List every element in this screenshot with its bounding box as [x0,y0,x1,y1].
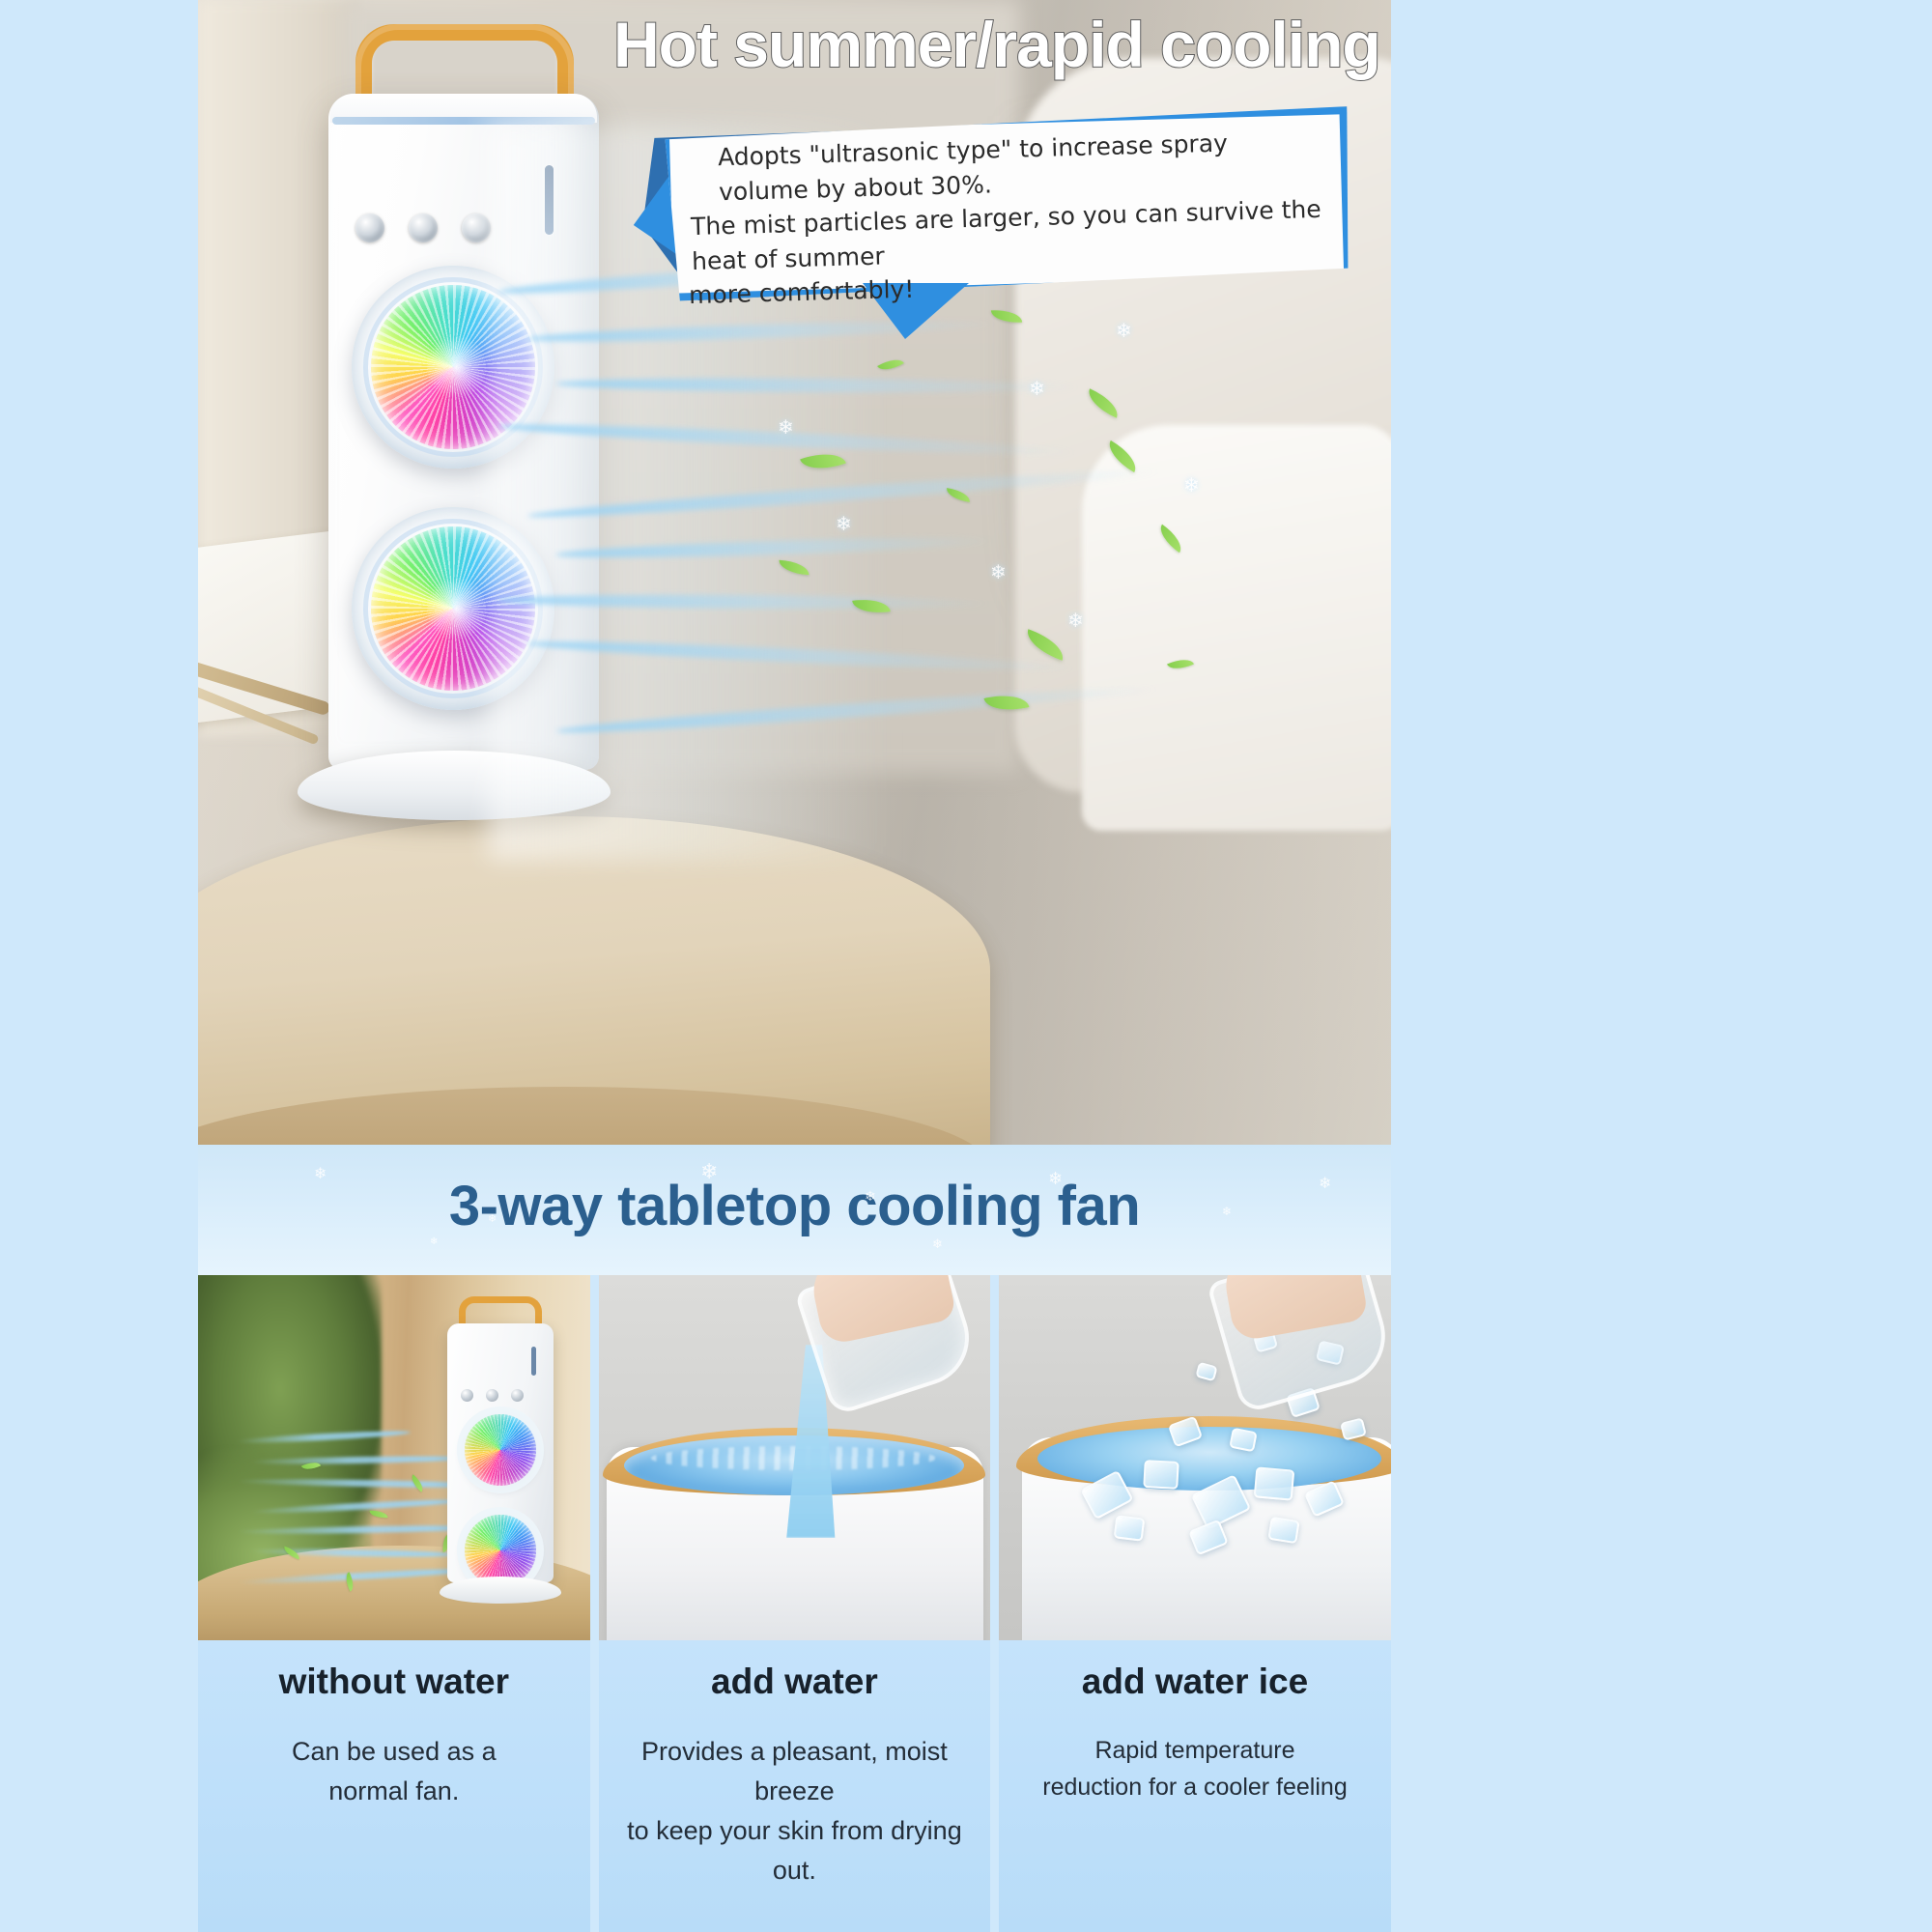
section-banner: 3-way tabletop cooling fan ❄❄❄❄❄❄❄❄❄ [198,1145,1391,1275]
speech-bubble-text: Adopts "ultrasonic type" to increase spr… [685,124,1327,313]
panel-caption-add-water-ice: add water ice Rapid temperature reductio… [999,1640,1391,1932]
mini-rainbow-fan-lower [465,1515,536,1586]
panel-body-line-2: reduction for a cooler feeling [1012,1769,1378,1805]
mini-product [443,1296,557,1605]
banner-title: 3-way tabletop cooling fan [198,1174,1391,1238]
panel-body-line-2: to keep your skin from drying out. [612,1811,978,1890]
product-listing-image: ❄❄❄❄❄❄❄❄ Hot summer/rapid cooling Adopts… [0,0,1932,1932]
mini-buttons [461,1389,528,1402]
panel-airflow-band [250,1548,458,1558]
panel-caption-add-water: add water Provides a pleasant, moist bre… [599,1640,991,1932]
panel-airflow-band [237,1429,411,1444]
ice-cube-icon [1114,1515,1146,1541]
banner-snowflake-icon: ❄ [1319,1174,1331,1193]
panel-body-line-1: Rapid temperature [1012,1732,1378,1769]
panel-without-water: without water Can be used as a normal fa… [198,1275,590,1932]
banner-snowflake-icon: ❄ [700,1159,718,1184]
panel-body-line-1: Can be used as a [212,1732,577,1772]
mini-button-icon-2 [486,1389,498,1402]
product-top-seam [332,117,595,125]
hero-headline: Hot summer/rapid cooling [613,8,1386,81]
ice-cube-icon [1267,1517,1299,1544]
speech-bubble: Adopts "ultrasonic type" to increase spr… [642,111,1348,324]
hero-section: ❄❄❄❄❄❄❄❄ Hot summer/rapid cooling Adopts… [198,0,1391,1145]
panel-body: Rapid temperature reduction for a cooler… [999,1732,1391,1805]
banner-snowflake-icon: ❄ [1048,1169,1063,1189]
panel-leaf-icon [369,1510,387,1519]
power-button-icon[interactable] [355,213,384,242]
mini-rainbow-fan-upper [465,1414,536,1486]
banner-snowflake-icon: ❄ [314,1164,327,1183]
feature-panels: without water Can be used as a normal fa… [198,1275,1391,1932]
mini-button-icon-1 [461,1389,473,1402]
panel-title: without water [198,1662,590,1703]
mini-button-icon-3 [511,1389,524,1402]
speed-button-icon[interactable] [409,213,438,242]
banner-snowflake-icon: ❄ [488,1212,497,1225]
mini-vent-slot [531,1347,536,1376]
content-column: ❄❄❄❄❄❄❄❄ Hot summer/rapid cooling Adopts… [198,0,1391,1932]
panel-body: Provides a pleasant, moist breeze to kee… [599,1732,991,1890]
panel-title: add water [599,1662,991,1703]
banner-snowflake-icon: ❄ [865,1188,876,1205]
panel-body: Can be used as a normal fan. [198,1732,590,1811]
panel-image-add-water-ice [999,1275,1391,1640]
panel-image-without-water [198,1275,590,1640]
ice-cube-icon [1143,1460,1179,1490]
panel-airflow-band [250,1497,462,1515]
banner-snowflake-icon: ❄ [430,1236,438,1247]
mini-base [440,1577,561,1604]
ice-cube-icon [1254,1466,1295,1500]
banner-snowflake-icon: ❄ [1222,1205,1232,1218]
panel-airflow-band [250,1455,466,1465]
product-control-buttons[interactable] [355,213,500,246]
panel-add-water: add water Provides a pleasant, moist bre… [599,1275,991,1932]
panel-title: add water ice [999,1662,1391,1703]
mist-button-icon[interactable] [462,213,491,242]
panel-image-add-water [599,1275,991,1640]
panel-body-line-1: Provides a pleasant, moist breeze [612,1732,978,1811]
banner-snowflake-icon: ❄ [932,1236,943,1252]
panel-body-line-2: normal fan. [212,1772,577,1811]
panel-add-water-ice: add water ice Rapid temperature reductio… [999,1275,1391,1932]
sofa-cushion [1082,425,1391,831]
panel-caption-without-water: without water Can be used as a normal fa… [198,1640,590,1932]
